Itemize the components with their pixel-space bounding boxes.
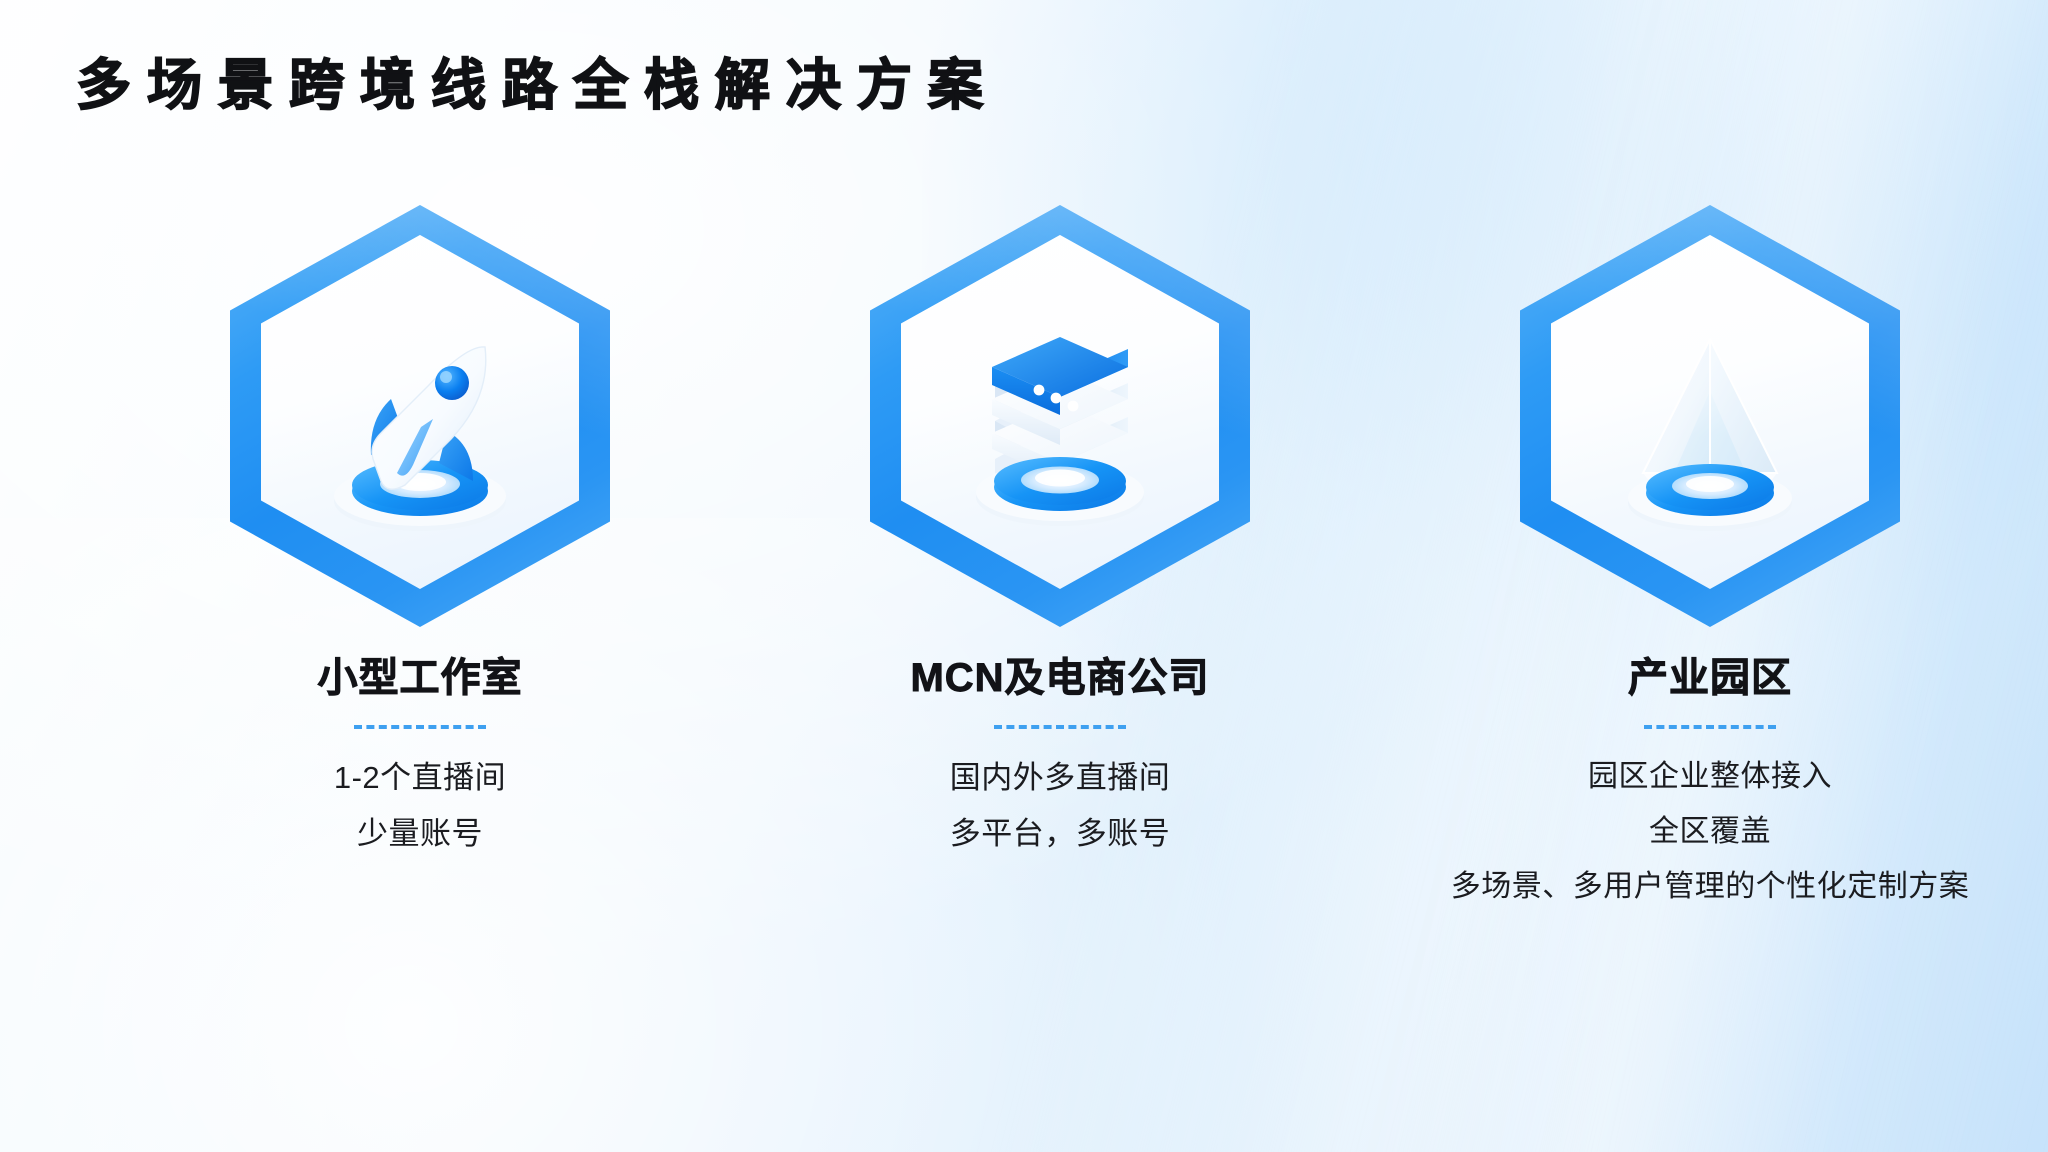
solution-card-industrial-park[interactable]: 产业园区 园区企业整体接入 全区覆盖 多场景、多用户管理的个性化定制方案: [1390, 205, 2030, 905]
card-divider: [354, 725, 486, 729]
server-stack-3d-icon: [935, 295, 1185, 545]
card-line: 多平台，多账号: [950, 815, 1171, 852]
hexagon-badge: [220, 205, 620, 635]
card-line: 国内外多直播间: [950, 759, 1171, 796]
card-line: 园区企业整体接入: [1588, 759, 1832, 795]
solution-card-mcn-ecommerce[interactable]: MCN及电商公司 国内外多直播间 多平台，多账号: [740, 205, 1380, 852]
icon-stage: [1510, 205, 1910, 635]
card-line: 少量账号: [357, 815, 483, 852]
card-description: 1-2个直播间 少量账号: [334, 759, 506, 852]
card-title: 小型工作室: [318, 655, 523, 701]
card-line: 多场景、多用户管理的个性化定制方案: [1451, 869, 1970, 905]
card-description: 园区企业整体接入 全区覆盖 多场景、多用户管理的个性化定制方案: [1451, 759, 1970, 905]
card-line: 全区覆盖: [1649, 814, 1771, 850]
solution-card-row: 小型工作室 1-2个直播间 少量账号: [0, 205, 2048, 905]
rocket-3d-icon: [295, 295, 545, 545]
hexagon-badge: [1510, 205, 1910, 635]
page-title: 多场景跨境线路全栈解决方案: [76, 58, 999, 113]
icon-stage: [860, 205, 1260, 635]
card-divider: [1644, 725, 1776, 729]
card-line: 1-2个直播间: [334, 759, 506, 796]
solution-card-small-studio[interactable]: 小型工作室 1-2个直播间 少量账号: [100, 205, 740, 852]
hexagon-badge: [860, 205, 1260, 635]
card-title: 产业园区: [1628, 655, 1792, 701]
pyramid-3d-icon: [1585, 295, 1835, 545]
card-title: MCN及电商公司: [910, 655, 1209, 701]
card-description: 国内外多直播间 多平台，多账号: [950, 759, 1171, 852]
card-divider: [994, 725, 1126, 729]
icon-stage: [220, 205, 620, 635]
